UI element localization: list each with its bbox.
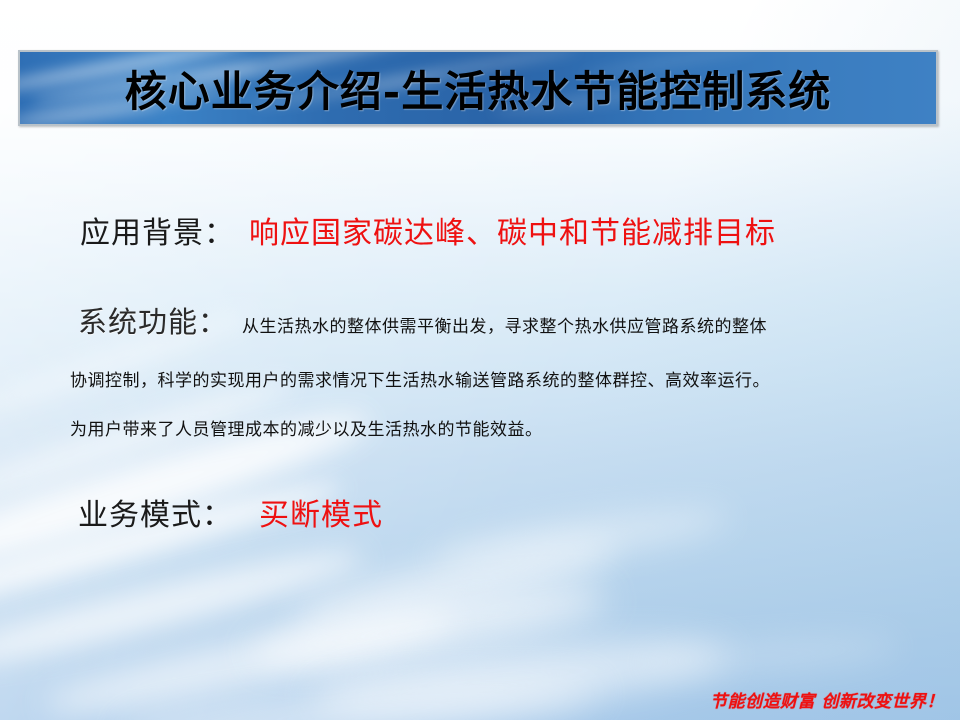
- business-mode-value: 买断模式: [259, 499, 383, 532]
- slide-content: 应用背景：响应国家碳达峰、碳中和节能减排目标 系统功能：从生活热水的整体供需平衡…: [0, 0, 960, 720]
- system-function-line-3: 为用户带来了人员管理成本的减少以及生活热水的节能效益。: [70, 420, 543, 439]
- application-background-label: 应用背景：: [80, 217, 235, 250]
- system-function-line-1: 从生活热水的整体供需平衡出发，寻求整个热水供应管路系统的整体: [242, 317, 767, 336]
- slide-canvas: 核心业务介绍-生活热水节能控制系统 应用背景：响应国家碳达峰、碳中和节能减排目标…: [0, 0, 960, 720]
- system-function-line-2: 协调控制，科学的实现用户的需求情况下生活热水输送管路系统的整体群控、高效率运行。: [70, 371, 770, 390]
- footer-slogan: 节能创造财富 创新改变世界！: [710, 687, 944, 712]
- application-background-value: 响应国家碳达峰、碳中和节能减排目标: [249, 217, 776, 250]
- section-system-function: 系统功能：从生活热水的整体供需平衡出发，寻求整个热水供应管路系统的整体: [78, 299, 767, 341]
- system-function-line-3-row: 为用户带来了人员管理成本的减少以及生活热水的节能效益。: [70, 415, 543, 440]
- section-application-background: 应用背景：响应国家碳达峰、碳中和节能减排目标: [80, 208, 776, 252]
- business-mode-label: 业务模式：: [78, 499, 233, 532]
- system-function-label: 系统功能：: [78, 307, 228, 339]
- section-business-mode: 业务模式：买断模式: [78, 490, 383, 534]
- system-function-line-2-row: 协调控制，科学的实现用户的需求情况下生活热水输送管路系统的整体群控、高效率运行。: [70, 366, 770, 391]
